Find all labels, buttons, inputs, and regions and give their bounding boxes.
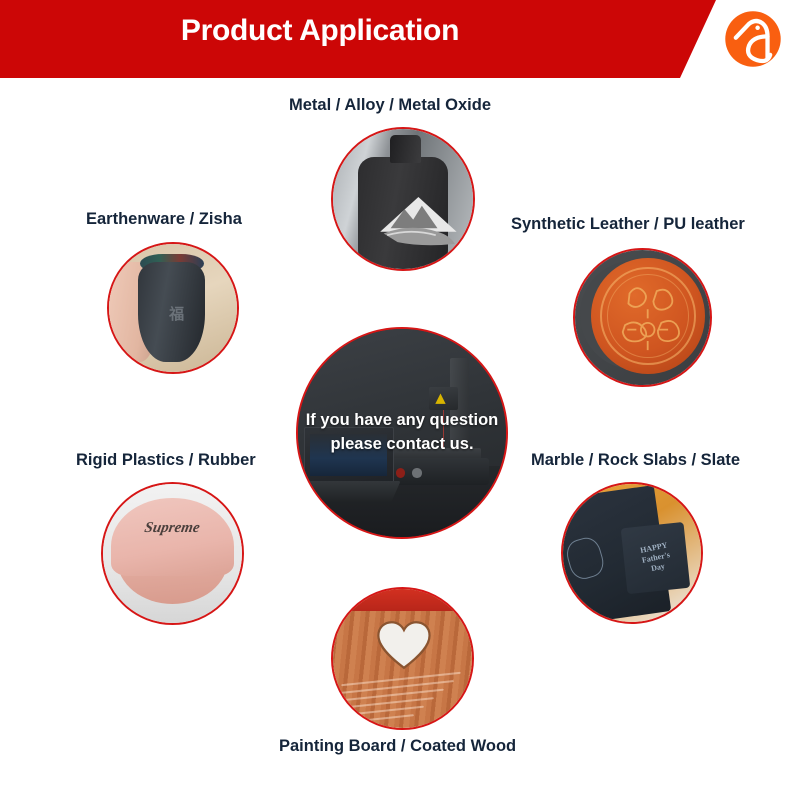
label-wood: Painting Board / Coated Wood [279, 737, 516, 756]
image-wood[interactable] [331, 587, 474, 730]
contact-line-2: please contact us. [330, 433, 473, 457]
image-metal[interactable] [331, 127, 475, 271]
label-earthenware: Earthenware / Zisha [86, 210, 242, 229]
wood-board-photo [333, 589, 472, 728]
engraved-fathers-day-text: HAPPY Father's Day [638, 541, 672, 576]
flask-cap [390, 135, 421, 163]
image-plastics[interactable]: Supreme [101, 482, 244, 625]
pu-leather-coaster-photo [575, 250, 710, 385]
image-slate[interactable]: HAPPY Father's Day [561, 482, 703, 624]
center-contact-circle[interactable]: If you have any question please contact … [296, 327, 508, 539]
center-contact-text: If you have any question please contact … [298, 329, 506, 537]
contact-line-1: If you have any question [306, 409, 499, 433]
label-leather: Synthetic Leather / PU leather [511, 215, 745, 234]
slate-coasters-photo: HAPPY Father's Day [563, 484, 701, 622]
slate-coaster-tile: HAPPY Father's Day [620, 522, 690, 595]
engraved-animal-motifs [591, 258, 704, 374]
clay-cup-photo: 福 [109, 244, 237, 372]
leather-coaster [591, 258, 704, 374]
engraved-mountain-art [375, 193, 462, 246]
case-lid: Supreme [111, 498, 233, 576]
page-title: Product Application [0, 14, 640, 48]
engraved-word: Supreme [143, 520, 201, 537]
page-header: Product Application [0, 0, 800, 82]
red-edge [333, 589, 472, 611]
bird-logo-icon [720, 6, 786, 72]
image-leather[interactable] [573, 248, 712, 387]
plastic-case-photo: Supreme [103, 484, 242, 623]
application-diagram: If you have any question please contact … [0, 82, 800, 800]
engraved-glyph: 福 [169, 303, 184, 324]
engraved-oval-motif [563, 535, 607, 583]
label-plastics: Rigid Plastics / Rubber [76, 451, 256, 470]
engraved-script-lines [341, 678, 466, 722]
image-earthenware[interactable]: 福 [107, 242, 239, 374]
engraved-line-3: Day [650, 562, 665, 574]
metal-flask-photo [333, 129, 473, 269]
label-slate: Marble / Rock Slabs / Slate [531, 451, 740, 470]
label-metal: Metal / Alloy / Metal Oxide [289, 96, 491, 115]
heart-cutout-icon [372, 620, 436, 670]
